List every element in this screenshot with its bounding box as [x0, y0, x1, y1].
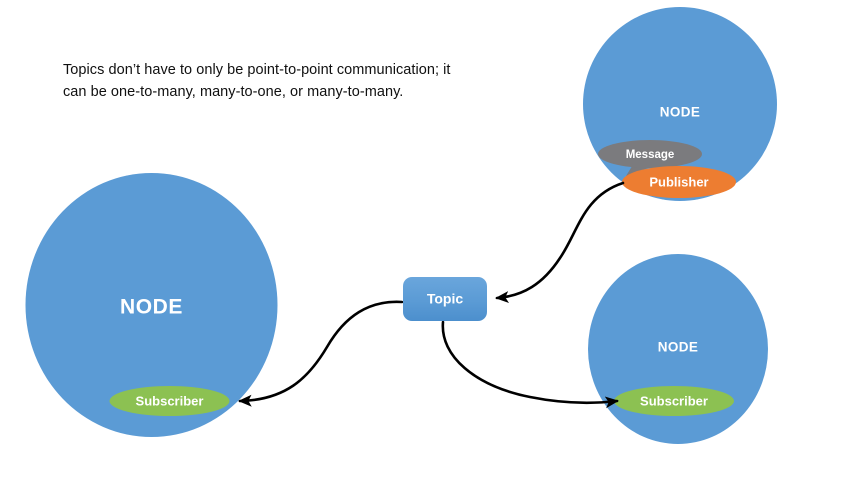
diagram-canvas: Topics don’t have to only be point-to-po…: [0, 0, 854, 480]
topic-label: Topic: [427, 291, 464, 307]
subscriber-bottom-right-label: Subscriber: [640, 393, 708, 408]
subscriber-left-label: Subscriber: [136, 393, 204, 408]
subscriber-bottom-right[interactable]: Subscriber: [614, 386, 734, 416]
topic-box[interactable]: Topic: [403, 277, 487, 321]
ros-topic-diagram: NODE Subscriber NODE Message Publisher: [0, 0, 854, 480]
node-top-right-label: NODE: [660, 105, 701, 120]
publisher-label: Publisher: [649, 174, 708, 189]
edge-publisher-to-topic: [497, 183, 623, 298]
node-bottom-right[interactable]: NODE Subscriber: [588, 254, 768, 444]
node-left-label: NODE: [120, 296, 183, 319]
node-bottom-right-label: NODE: [658, 340, 699, 355]
node-top-right[interactable]: NODE Message Publisher: [583, 7, 777, 201]
subscriber-left[interactable]: Subscriber: [110, 386, 230, 416]
message-bubble-label: Message: [626, 149, 675, 161]
node-left[interactable]: NODE Subscriber: [26, 173, 278, 437]
publisher-top-right[interactable]: Publisher: [622, 166, 736, 198]
